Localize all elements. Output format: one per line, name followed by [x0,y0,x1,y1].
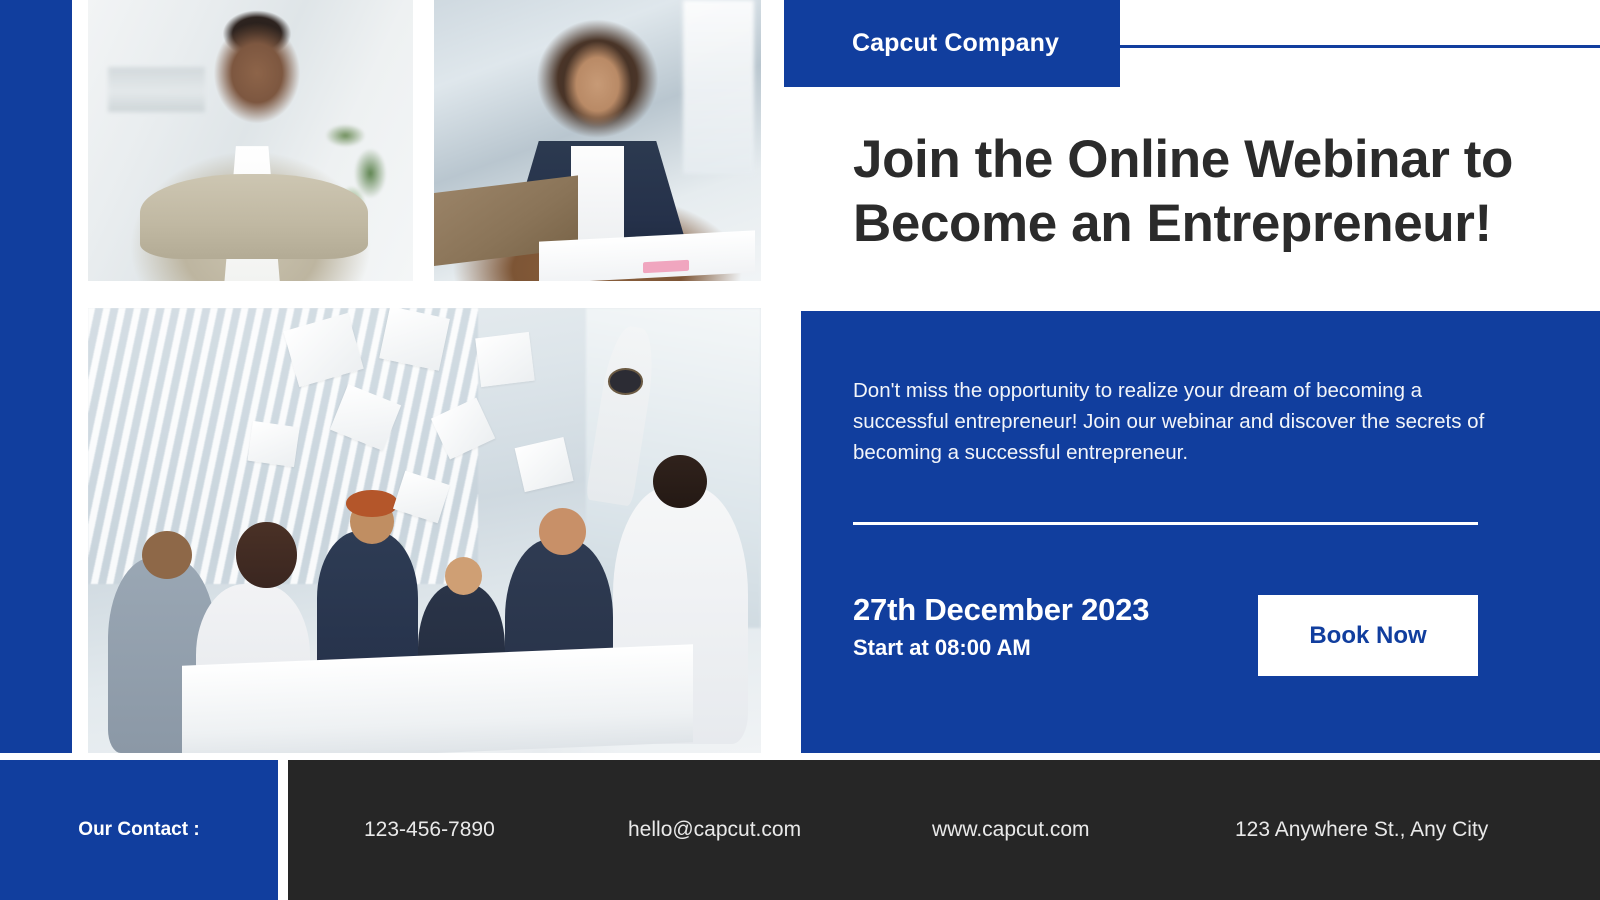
businesswoman-at-laptop-photo [434,0,761,281]
header-rule-line [1120,45,1600,48]
businessman-portrait-photo [88,0,413,281]
panel-divider [853,522,1478,525]
flying-paper [514,436,573,491]
photo-scene [88,308,761,753]
description-text: Don't miss the opportunity to realize yo… [853,375,1493,468]
wristwatch-shape [610,370,641,392]
poster-canvas: Capcut Company Join the Online Webinar t… [0,0,1600,900]
event-time: Start at 08:00 AM [853,635,1149,661]
contact-bar: 123-456-7890 hello@capcut.com www.capcut… [288,760,1600,900]
event-date: 27th December 2023 [853,592,1149,628]
left-accent-strip [0,0,72,753]
flying-paper [476,332,535,387]
person-head [539,508,586,555]
contact-address: 123 Anywhere St., Any City [1235,818,1488,842]
event-details: 27th December 2023 Start at 08:00 AM [853,592,1149,661]
person-head [445,557,482,595]
white-blouse-shape [571,146,623,242]
team-celebrating-meeting-photo [88,308,761,753]
brand-label-box: Capcut Company [784,0,1120,87]
photo-scene [88,0,413,281]
page-title: Join the Online Webinar to Become an Ent… [853,128,1553,255]
office-shelf-blur [108,67,206,112]
book-now-button[interactable]: Book Now [1258,595,1478,676]
contact-website[interactable]: www.capcut.com [932,818,1090,842]
photo-scene [434,0,761,281]
person-head [236,522,297,589]
person-hair [346,490,397,517]
office-window-blur [683,0,755,174]
contact-label: Our Contact : [78,819,199,841]
crossed-arms-shape [140,174,368,258]
company-name: Capcut Company [852,29,1059,58]
contact-email[interactable]: hello@capcut.com [628,818,801,842]
contact-phone[interactable]: 123-456-7890 [364,818,495,842]
info-panel: Don't miss the opportunity to realize yo… [801,311,1600,753]
flying-paper [247,421,299,467]
person-head [653,455,707,508]
contact-label-box: Our Contact : [0,760,278,900]
